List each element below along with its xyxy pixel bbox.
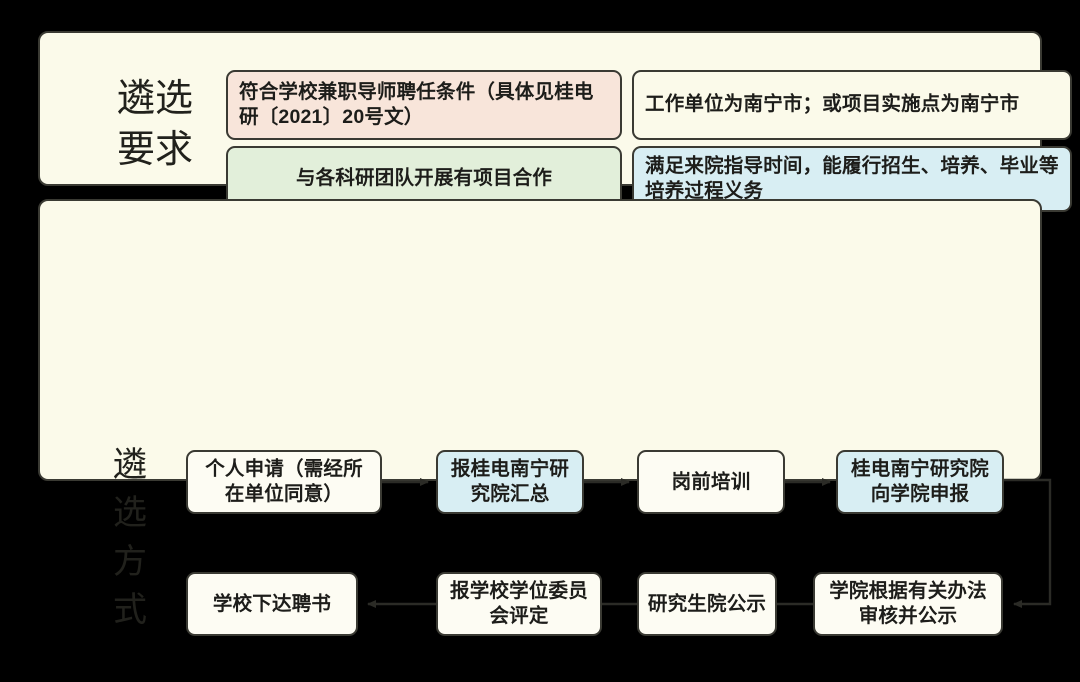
connector-layer bbox=[78, 400, 1080, 682]
process-node-institute-collection: 报桂电南宁研究院汇总 bbox=[436, 450, 584, 514]
process-node-personal-application: 个人申请（需经所在单位同意） bbox=[186, 450, 382, 514]
process-node-graduate-school-publicity: 研究生院公示 bbox=[637, 572, 777, 636]
diagram-canvas: 遴选 要求 符合学校兼职导师聘任条件（具体见桂电研〔2021〕20号文） 工作单… bbox=[0, 0, 1080, 505]
process-node-appointment-letter: 学校下达聘书 bbox=[186, 572, 358, 636]
process-panel: 遴 选 方 式 个人申请（需经所在单位同意） bbox=[38, 199, 1042, 481]
requirement-card-location: 工作单位为南宁市；或项目实施点为南宁市 bbox=[632, 70, 1072, 140]
requirement-card-qualification: 符合学校兼职导师聘任条件（具体见桂电研〔2021〕20号文） bbox=[226, 70, 622, 140]
process-node-college-review: 学院根据有关办法审核并公示 bbox=[813, 572, 1003, 636]
elbow-node3-to-node4 bbox=[1004, 480, 1050, 604]
process-side-label: 遴 选 方 式 bbox=[102, 441, 158, 634]
process-node-pre-job-training: 岗前培训 bbox=[637, 450, 785, 514]
requirements-panel: 遴选 要求 符合学校兼职导师聘任条件（具体见桂电研〔2021〕20号文） 工作单… bbox=[38, 31, 1042, 186]
process-node-institute-report-to-college: 桂电南宁研究院向学院申报 bbox=[836, 450, 1004, 514]
process-node-degree-committee-evaluation: 报学校学位委员会评定 bbox=[436, 572, 602, 636]
requirements-side-label: 遴选 要求 bbox=[100, 73, 210, 176]
